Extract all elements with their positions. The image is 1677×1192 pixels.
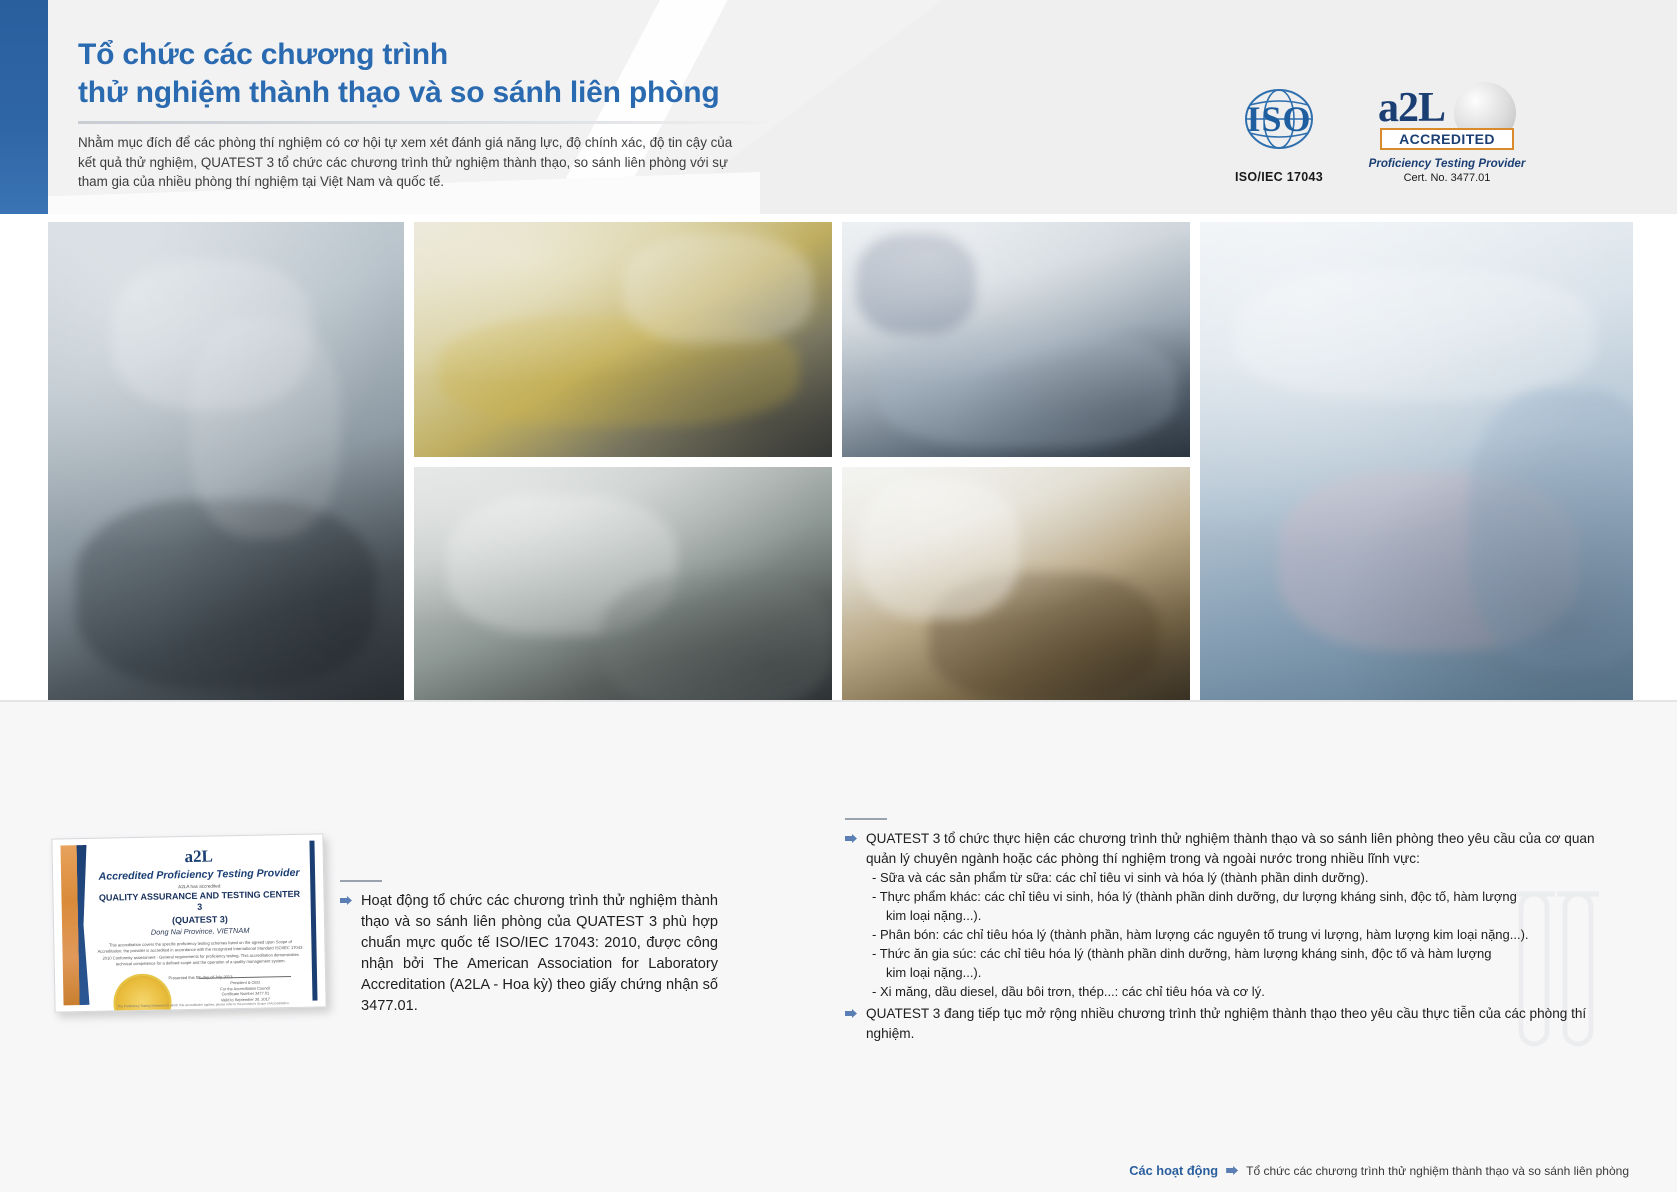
iso-logo: ISO ISO/IEC 17043: [1224, 88, 1334, 184]
photo-texture: [1200, 222, 1633, 700]
sub-item-4-main: - Xi măng, dầu diesel, dầu bôi trơn, thé…: [872, 984, 1265, 999]
footer-content: Các hoạt động Tổ chức các chương trình t…: [1129, 1163, 1629, 1178]
a2la-wordmark: a2L: [1378, 84, 1445, 132]
photo-texture: [842, 222, 1190, 457]
a2la-accredited-band: ACCREDITED: [1380, 128, 1514, 150]
title-divider: [78, 121, 768, 124]
certificate-heading: Accredited Proficiency Testing Provider: [95, 867, 303, 883]
arrow-bullet-icon: [845, 834, 857, 843]
a2la-caption-provider: Proficiency Testing Provider: [1352, 157, 1542, 170]
footer-section-text: Tổ chức các chương trình thử nghiệm thàn…: [1246, 1164, 1629, 1178]
sub-item-1-cont: kim loại nặng...).: [886, 906, 1605, 925]
mid-column-text: Hoạt động tổ chức các chương trình thử n…: [361, 891, 718, 1017]
sub-item-2: - Phân bón: các chỉ tiêu hóa lý (thành p…: [872, 925, 1605, 944]
sub-item-0-main: - Sữa và các sản phẩm từ sữa: các chỉ ti…: [872, 870, 1368, 885]
a2la-accredited-text: ACCREDITED: [1399, 131, 1495, 147]
photo-technician-instrument-bench: [414, 467, 832, 700]
page-title-line-1: Tổ chức các chương trình: [78, 36, 798, 74]
certificate-content: a2L Accredited Proficiency Testing Provi…: [95, 845, 306, 982]
right-column-tick-rule: [845, 818, 887, 820]
sub-item-3-main: - Thức ăn gia súc: các chỉ tiêu hóa lý (…: [872, 946, 1492, 961]
sub-item-1: - Thực phẩm khác: các chỉ tiêu vi sinh, …: [872, 887, 1605, 925]
content-top-divider: [0, 700, 1677, 702]
right-column: QUATEST 3 tổ chức thực hiện các chương t…: [845, 818, 1605, 1043]
sub-item-4: - Xi măng, dầu diesel, dầu bôi trơn, thé…: [872, 982, 1605, 1001]
right-bullet-2-row: QUATEST 3 đang tiếp tục mở rộng nhiều ch…: [845, 1004, 1605, 1043]
photo-amber-sample-bottles-oven: [414, 222, 832, 457]
a2la-mark: a2L ACCREDITED: [1372, 82, 1522, 150]
arrow-bullet-icon: [845, 1009, 857, 1018]
iso-globe-icon: ISO: [1231, 88, 1327, 150]
photo-gallery: [48, 222, 1633, 700]
sub-item-3: - Thức ăn gia súc: các chỉ tiêu hóa lý (…: [872, 944, 1605, 982]
photo-reagent-bottles-carton: [842, 467, 1190, 700]
sub-item-1-main: - Thực phẩm khác: các chỉ tiêu vi sinh, …: [872, 889, 1517, 904]
certificate-right-rule: [309, 841, 317, 1001]
page-subtitle: Nhằm mục đích để các phòng thí nghiệm có…: [78, 133, 738, 192]
sub-item-2-main: - Phân bón: các chỉ tiêu hóa lý (thành p…: [872, 927, 1529, 942]
title-block: Tổ chức các chương trình thử nghiệm thàn…: [78, 36, 798, 192]
a2la-logo: a2L ACCREDITED Proficiency Testing Provi…: [1352, 82, 1542, 184]
a2la-caption-cert-no: Cert. No. 3477.01: [1352, 172, 1542, 184]
iso-wordmark: ISO: [1231, 101, 1327, 137]
photo-texture: [842, 467, 1190, 700]
certificate-paragraph: This accreditation covers the specific p…: [96, 939, 304, 969]
footer-section-label: Các hoạt động: [1129, 1163, 1218, 1178]
sub-item-0: - Sữa và các sản phẩm từ sữa: các chỉ ti…: [872, 868, 1605, 887]
photo-texture: [48, 222, 404, 700]
mid-column: Hoạt động tổ chức các chương trình thử n…: [340, 880, 718, 1017]
photo-titration-burettes: [1200, 222, 1633, 700]
photo-lab-glass-vessel: [48, 222, 404, 700]
right-bullet-1-text: QUATEST 3 tổ chức thực hiện các chương t…: [866, 829, 1605, 868]
left-blue-spine: [0, 0, 48, 214]
right-bullet-2-text: QUATEST 3 đang tiếp tục mở rộng nhiều ch…: [866, 1004, 1605, 1043]
brochure-page: Tổ chức các chương trình thử nghiệm thàn…: [0, 0, 1677, 1192]
photo-vial-rack-tray: [842, 222, 1190, 457]
page-title-line-2: thử nghiệm thành thạo và so sánh liên ph…: [78, 74, 798, 112]
mid-column-tick-rule: [340, 880, 382, 882]
certificate-signature-block: President & CEO For the Accreditation Co…: [199, 976, 291, 1002]
footer-arrow-icon: [1226, 1166, 1238, 1175]
arrow-bullet-icon: [340, 896, 352, 905]
mid-column-bullet-row: Hoạt động tổ chức các chương trình thử n…: [340, 891, 718, 1017]
certificate-image: a2L Accredited Proficiency Testing Provi…: [51, 833, 326, 1012]
iso-standard-caption: ISO/IEC 17043: [1224, 170, 1334, 184]
certificate-a2la-logo: a2L: [95, 845, 303, 869]
photo-texture: [414, 467, 832, 700]
photo-texture: [414, 222, 832, 457]
certificate-org-line-1: QUALITY ASSURANCE AND TESTING CENTER 3: [95, 889, 303, 915]
right-bullet-1-row: QUATEST 3 tổ chức thực hiện các chương t…: [845, 829, 1605, 868]
sub-item-3-cont: kim loại nặng...).: [886, 963, 1605, 982]
footer-bar: Các hoạt động Tổ chức các chương trình t…: [0, 1146, 1677, 1192]
